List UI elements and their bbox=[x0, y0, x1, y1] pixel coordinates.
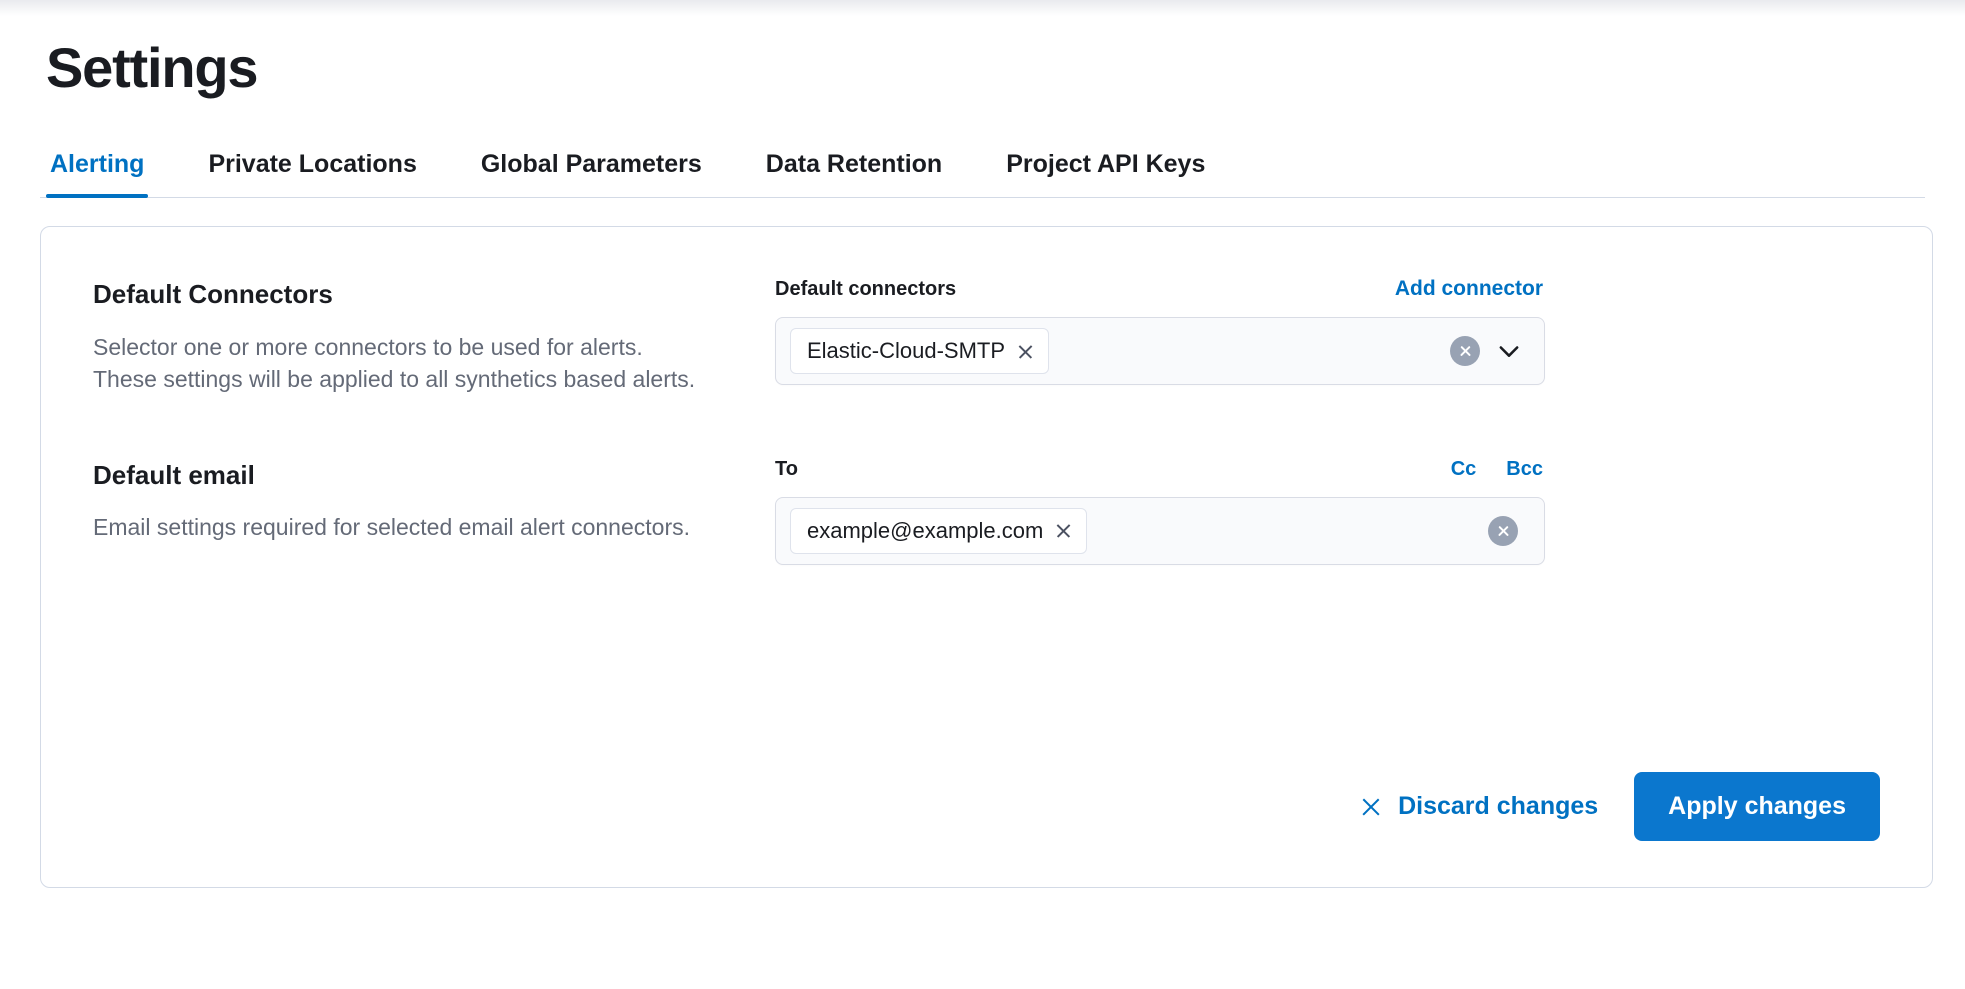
default-connectors-description: Selector one or more connectors to be us… bbox=[93, 331, 703, 396]
to-field-label: To bbox=[775, 458, 798, 481]
discard-changes-label: Discard changes bbox=[1398, 792, 1598, 821]
tab-data-retention[interactable]: Data Retention bbox=[762, 144, 946, 197]
tab-global-parameters[interactable]: Global Parameters bbox=[477, 144, 706, 197]
clear-recipients-button[interactable] bbox=[1488, 516, 1518, 546]
apply-changes-button[interactable]: Apply changes bbox=[1634, 772, 1880, 841]
default-email-description-column: Default email Email settings required fo… bbox=[93, 458, 753, 544]
section-spacer bbox=[93, 396, 1880, 458]
tab-alerting[interactable]: Alerting bbox=[46, 144, 148, 197]
connector-pill-label: Elastic-Cloud-SMTP bbox=[807, 338, 1005, 364]
card-footer-actions: Discard changes Apply changes bbox=[1354, 772, 1880, 841]
default-email-field-column: To Cc Bcc example@example.com bbox=[753, 458, 1543, 565]
remove-recipient-icon[interactable] bbox=[1055, 522, 1072, 539]
chevron-down-icon bbox=[1495, 337, 1523, 365]
page-content: Settings Alerting Private Locations Glob… bbox=[0, 0, 1965, 888]
default-connectors-field-header: Default connectors Add connector bbox=[775, 277, 1543, 301]
discard-changes-button[interactable]: Discard changes bbox=[1354, 782, 1604, 831]
page-title: Settings bbox=[40, 0, 1925, 100]
default-connectors-heading: Default Connectors bbox=[93, 279, 753, 310]
default-connectors-description-column: Default Connectors Selector one or more … bbox=[93, 277, 753, 396]
cross-icon bbox=[1360, 796, 1382, 818]
settings-tabs: Alerting Private Locations Global Parame… bbox=[40, 144, 1925, 198]
default-connectors-section: Default Connectors Selector one or more … bbox=[93, 277, 1880, 396]
default-email-description: Email settings required for selected ema… bbox=[93, 511, 703, 544]
to-recipients-combobox[interactable]: example@example.com bbox=[775, 497, 1545, 565]
clear-connectors-button[interactable] bbox=[1450, 336, 1480, 366]
connector-pill[interactable]: Elastic-Cloud-SMTP bbox=[790, 328, 1049, 374]
remove-connector-icon[interactable] bbox=[1017, 343, 1034, 360]
alerting-settings-card: Default Connectors Selector one or more … bbox=[40, 226, 1933, 888]
add-connector-link[interactable]: Add connector bbox=[1395, 277, 1543, 301]
default-email-section: Default email Email settings required fo… bbox=[93, 458, 1880, 565]
card-inner: Default Connectors Selector one or more … bbox=[41, 227, 1932, 887]
email-field-actions: Cc Bcc bbox=[1451, 458, 1543, 481]
recipient-pill-label: example@example.com bbox=[807, 518, 1043, 544]
default-connectors-field-column: Default connectors Add connector Elastic… bbox=[753, 277, 1543, 385]
close-icon bbox=[1497, 524, 1510, 537]
default-email-field-header: To Cc Bcc bbox=[775, 458, 1543, 481]
settings-page: Settings Alerting Private Locations Glob… bbox=[0, 0, 1965, 989]
recipient-pill[interactable]: example@example.com bbox=[790, 508, 1087, 554]
bcc-link[interactable]: Bcc bbox=[1506, 458, 1543, 481]
tab-project-api-keys[interactable]: Project API Keys bbox=[1002, 144, 1209, 197]
tab-private-locations[interactable]: Private Locations bbox=[204, 144, 420, 197]
cc-link[interactable]: Cc bbox=[1451, 458, 1477, 481]
close-icon bbox=[1459, 345, 1472, 358]
connectors-dropdown-toggle[interactable] bbox=[1494, 336, 1524, 366]
default-connectors-field-actions: Add connector bbox=[1395, 277, 1543, 301]
default-connectors-combobox[interactable]: Elastic-Cloud-SMTP bbox=[775, 317, 1545, 385]
default-email-heading: Default email bbox=[93, 460, 753, 491]
default-connectors-field-label: Default connectors bbox=[775, 278, 956, 301]
